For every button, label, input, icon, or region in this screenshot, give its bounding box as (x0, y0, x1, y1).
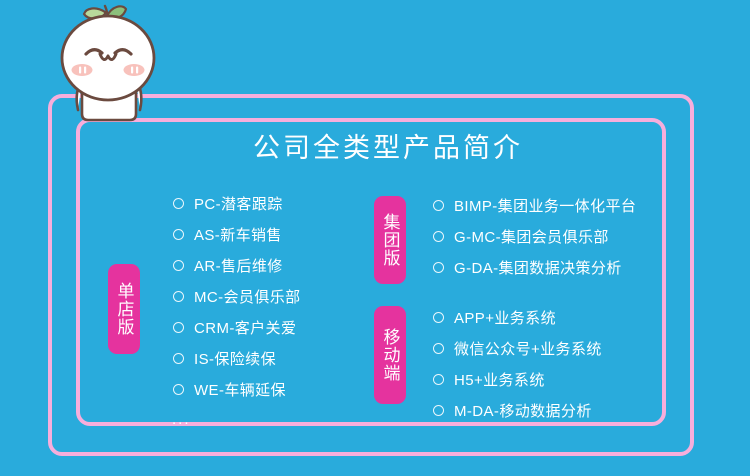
mascot-illustration (38, 2, 178, 150)
list-item: BIMP-集团业务一体化平台 (432, 190, 636, 221)
list-item-label: G-DA-集团数据决策分析 (454, 257, 622, 278)
ring-bullet-icon (432, 373, 445, 386)
tag-single-store-edition: 单店版 (108, 264, 140, 354)
list-item-label: IS-保险续保 (194, 348, 276, 369)
list-item-label: CRM-客户关爱 (194, 317, 296, 338)
list-item-label: H5+业务系统 (454, 369, 545, 390)
product-list-group-edition: BIMP-集团业务一体化平台 G-MC-集团会员俱乐部 G-DA-集团数据决策分… (432, 190, 636, 283)
list-item-label: PC-潜客跟踪 (194, 193, 283, 214)
tag-label: 集团版 (380, 213, 401, 267)
blush-left (72, 64, 93, 76)
ring-bullet-icon (172, 259, 185, 272)
list-item: AR-售后维修 (172, 250, 301, 281)
list-item: H5+业务系统 (432, 364, 602, 395)
ring-bullet-icon (172, 228, 185, 241)
list-item: IS-保险续保 (172, 343, 301, 374)
ring-bullet-icon (432, 199, 445, 212)
ring-bullet-icon (172, 352, 185, 365)
list-item-label: BIMP-集团业务一体化平台 (454, 195, 636, 216)
ring-bullet-icon (432, 342, 445, 355)
list-item: APP+业务系统 (432, 302, 602, 333)
ring-bullet-icon (172, 321, 185, 334)
list-item-label: G-MC-集团会员俱乐部 (454, 226, 609, 247)
ring-bullet-icon (432, 261, 445, 274)
list-item: G-DA-集团数据决策分析 (432, 252, 636, 283)
blush-right (124, 64, 145, 76)
list-item: WE-车辆延保 (172, 374, 301, 405)
list-item: MC-会员俱乐部 (172, 281, 301, 312)
ring-bullet-icon (172, 197, 185, 210)
tag-mobile-terminal: 移动端 (374, 306, 406, 404)
list-item-label: AS-新车销售 (194, 224, 282, 245)
ring-bullet-icon (172, 383, 185, 396)
more-label: ... (172, 411, 191, 428)
list-item: PC-潜客跟踪 (172, 188, 301, 219)
product-list-single-store: PC-潜客跟踪 AS-新车销售 AR-售后维修 MC-会员俱乐部 CRM-客户关… (172, 188, 301, 433)
list-item: AS-新车销售 (172, 219, 301, 250)
product-overview-poster: 公司全类型产品简介 单店版 集团版 移动端 PC-潜客跟踪 AS-新车销售 AR… (0, 0, 750, 476)
ring-bullet-icon (432, 311, 445, 324)
list-item: M-DA-移动数据分析 (432, 395, 602, 426)
list-item-label: M-DA-移动数据分析 (454, 400, 592, 421)
ring-bullet-icon (172, 290, 185, 303)
product-list-mobile-terminal: APP+业务系统 微信公众号+业务系统 H5+业务系统 M-DA-移动数据分析 (432, 302, 602, 426)
tag-group-edition: 集团版 (374, 196, 406, 284)
list-item: G-MC-集团会员俱乐部 (432, 221, 636, 252)
ring-bullet-icon (432, 404, 445, 417)
tag-label: 移动端 (380, 328, 401, 382)
list-more-indicator: ... (172, 405, 301, 433)
list-item-label: MC-会员俱乐部 (194, 286, 301, 307)
list-item-label: 微信公众号+业务系统 (454, 338, 602, 359)
list-item-label: WE-车辆延保 (194, 379, 286, 400)
ring-bullet-icon (432, 230, 445, 243)
list-item: CRM-客户关爱 (172, 312, 301, 343)
list-item: 微信公众号+业务系统 (432, 333, 602, 364)
tag-label: 单店版 (114, 282, 135, 336)
list-item-label: AR-售后维修 (194, 255, 283, 276)
list-item-label: APP+业务系统 (454, 307, 556, 328)
mascot-head (62, 16, 154, 100)
